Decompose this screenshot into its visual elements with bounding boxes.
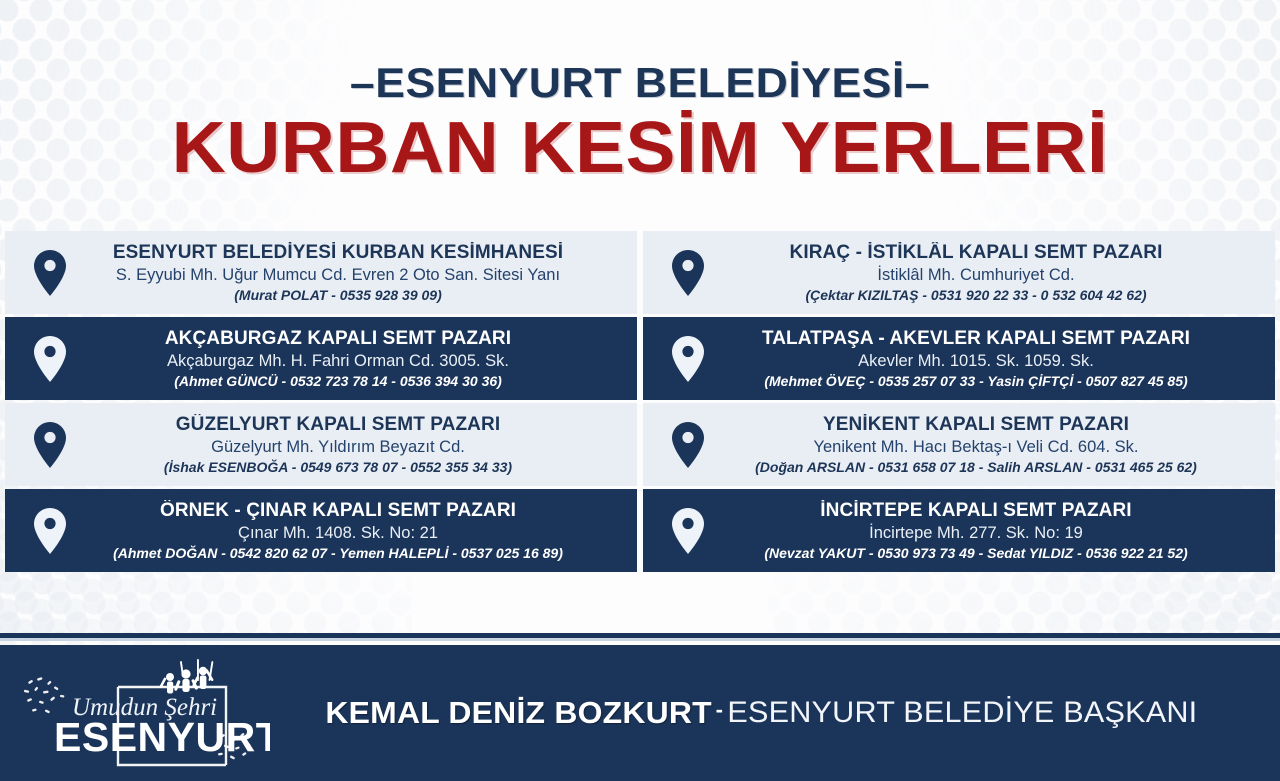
location-card[interactable]: TALATPAŞA - AKEVLER KAPALI SEMT PAZARIAk… <box>643 317 1275 400</box>
location-name: YENİKENT KAPALI SEMT PAZARI <box>717 414 1235 436</box>
poster-root: –ESENYURT BELEDİYESİ– KURBAN KESİM YERLE… <box>0 0 1280 781</box>
poster-header: –ESENYURT BELEDİYESİ– KURBAN KESİM YERLE… <box>0 0 1280 185</box>
location-contact: (Ahmet DOĞAN - 0542 820 62 07 - Yemen HA… <box>79 545 597 562</box>
map-pin-icon <box>659 248 717 298</box>
location-name: TALATPAŞA - AKEVLER KAPALI SEMT PAZARI <box>717 328 1235 350</box>
location-card[interactable]: AKÇABURGAZ KAPALI SEMT PAZARIAkçaburgaz … <box>5 317 637 400</box>
location-card[interactable]: ÖRNEK - ÇINAR KAPALI SEMT PAZARIÇınar Mh… <box>5 489 637 572</box>
location-contact: (Mehmet ÖVEÇ - 0535 257 07 33 - Yasin Çİ… <box>717 373 1235 390</box>
footer-divider <box>0 633 1280 638</box>
location-address: Çınar Mh. 1408. Sk. No: 21 <box>79 523 597 543</box>
location-card-body: ÖRNEK - ÇINAR KAPALI SEMT PAZARIÇınar Mh… <box>79 500 623 562</box>
location-card-body: YENİKENT KAPALI SEMT PAZARIYenikent Mh. … <box>717 414 1261 476</box>
location-address: Güzelyurt Mh. Yıldırım Beyazıt Cd. <box>79 437 597 457</box>
mayor-name: KEMAL DENİZ BOZKURT <box>326 695 712 731</box>
location-contact: (İshak ESENBOĞA - 0549 673 78 07 - 0552 … <box>79 459 597 476</box>
poster-footer: Umudun Şehri ESENYURT Umudun Şehri ESENY… <box>0 645 1280 781</box>
location-address: Akevler Mh. 1015. Sk. 1059. Sk. <box>717 351 1235 371</box>
map-pin-icon <box>21 506 79 556</box>
mayor-role: ESENYURT BELEDİYE BAŞKANI <box>727 696 1197 730</box>
map-pin-icon <box>21 334 79 384</box>
subtitle-municipality: –ESENYURT BELEDİYESİ– <box>0 62 1280 104</box>
map-pin-icon <box>659 334 717 384</box>
location-card[interactable]: ESENYURT BELEDİYESİ KURBAN KESİMHANESİS.… <box>5 231 637 314</box>
location-card[interactable]: İNCİRTEPE KAPALI SEMT PAZARIİncirtepe Mh… <box>643 489 1275 572</box>
location-card-body: İNCİRTEPE KAPALI SEMT PAZARIİncirtepe Mh… <box>717 500 1261 562</box>
location-card[interactable]: KIRAÇ - İSTİKLÂL KAPALI SEMT PAZARIİstik… <box>643 231 1275 314</box>
location-address: S. Eyyubi Mh. Uğur Mumcu Cd. Evren 2 Oto… <box>79 265 597 285</box>
location-address: İstiklâl Mh. Cumhuriyet Cd. <box>717 265 1235 285</box>
location-name: GÜZELYURT KAPALI SEMT PAZARI <box>79 414 597 436</box>
location-card[interactable]: GÜZELYURT KAPALI SEMT PAZARIGüzelyurt Mh… <box>5 403 637 486</box>
location-address: Akçaburgaz Mh. H. Fahri Orman Cd. 3005. … <box>79 351 597 371</box>
map-pin-icon <box>659 506 717 556</box>
location-contact: (Murat POLAT - 0535 928 39 09) <box>79 287 597 304</box>
location-name: ESENYURT BELEDİYESİ KURBAN KESİMHANESİ <box>79 242 597 264</box>
location-name: KIRAÇ - İSTİKLÂL KAPALI SEMT PAZARI <box>717 242 1235 264</box>
map-pin-icon <box>21 420 79 470</box>
location-card-body: AKÇABURGAZ KAPALI SEMT PAZARIAkçaburgaz … <box>79 328 623 390</box>
location-contact: (Doğan ARSLAN - 0531 658 07 18 - Salih A… <box>717 459 1235 476</box>
location-card-body: TALATPAŞA - AKEVLER KAPALI SEMT PAZARIAk… <box>717 328 1261 390</box>
mayor-separator: - <box>716 697 723 723</box>
location-card-body: GÜZELYURT KAPALI SEMT PAZARIGüzelyurt Mh… <box>79 414 623 476</box>
esenyurt-logo: Umudun Şehri ESENYURT Umudun Şehri ESENY… <box>14 657 270 769</box>
map-pin-icon <box>21 248 79 298</box>
logo-name-text: ESENYURT <box>54 714 270 760</box>
location-address: Yenikent Mh. Hacı Bektaş-ı Veli Cd. 604.… <box>717 437 1235 457</box>
location-card[interactable]: YENİKENT KAPALI SEMT PAZARIYenikent Mh. … <box>643 403 1275 486</box>
location-contact: (Nevzat YAKUT - 0530 973 73 49 - Sedat Y… <box>717 545 1235 562</box>
location-card-body: ESENYURT BELEDİYESİ KURBAN KESİMHANESİS.… <box>79 242 623 304</box>
location-contact: (Ahmet GÜNCÜ - 0532 723 78 14 - 0536 394… <box>79 373 597 390</box>
location-contact: (Çektar KIZILTAŞ - 0531 920 22 33 - 0 53… <box>717 287 1235 304</box>
page-title: KURBAN KESİM YERLERİ <box>0 112 1280 185</box>
mayor-banner: KEMAL DENİZ BOZKURT - ESENYURT BELEDİYE … <box>270 695 1280 731</box>
map-pin-icon <box>659 420 717 470</box>
location-name: AKÇABURGAZ KAPALI SEMT PAZARI <box>79 328 597 350</box>
location-name: ÖRNEK - ÇINAR KAPALI SEMT PAZARI <box>79 500 597 522</box>
location-name: İNCİRTEPE KAPALI SEMT PAZARI <box>717 500 1235 522</box>
location-card-grid: ESENYURT BELEDİYESİ KURBAN KESİMHANESİS.… <box>0 231 1280 572</box>
location-card-body: KIRAÇ - İSTİKLÂL KAPALI SEMT PAZARIİstik… <box>717 242 1261 304</box>
location-address: İncirtepe Mh. 277. Sk. No: 19 <box>717 523 1235 543</box>
